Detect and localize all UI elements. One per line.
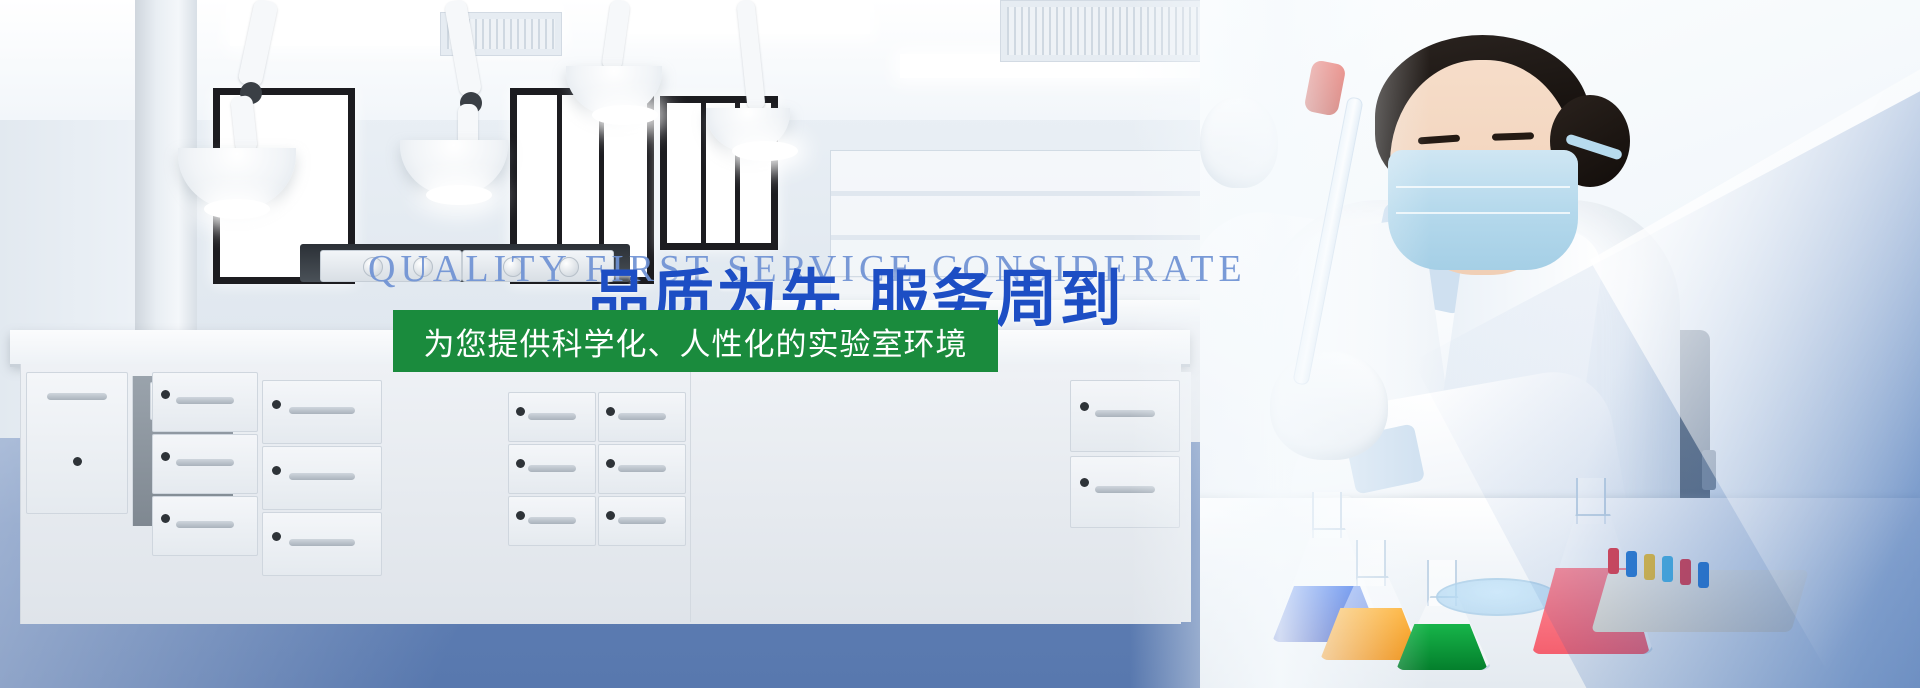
text-overlay: QUALITY FIRST SERVICE CONSIDERATE 品质为先 服… [0,0,1920,688]
hero-banner: QUALITY FIRST SERVICE CONSIDERATE 品质为先 服… [0,0,1920,688]
subtitle-bar: 为您提供科学化、人性化的实验室环境 [393,310,998,372]
subtitle-text: 为您提供科学化、人性化的实验室环境 [424,319,968,364]
